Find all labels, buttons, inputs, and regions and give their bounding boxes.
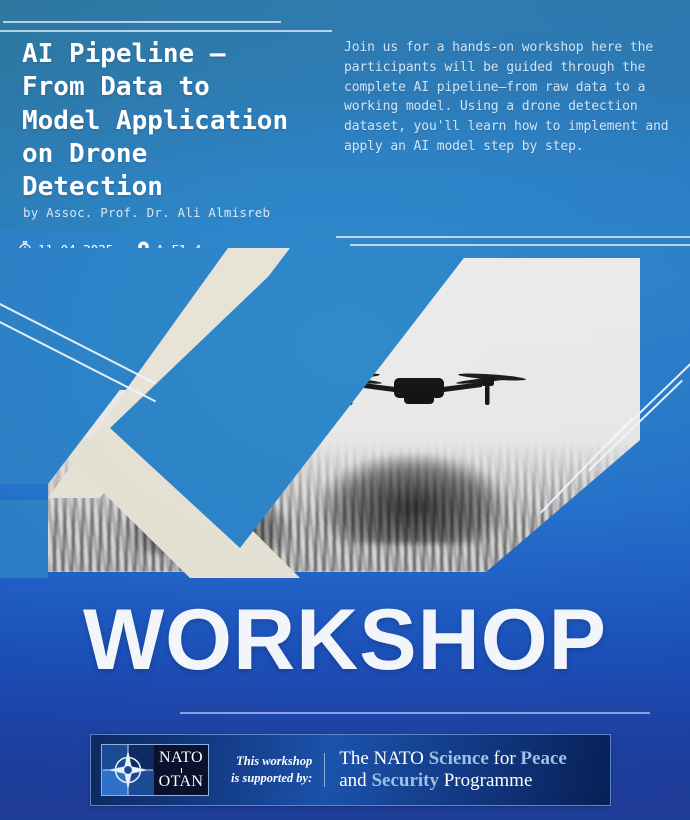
divider-top-short [3,21,281,23]
programme-text-1: The NATO [339,748,428,769]
divider-bottom [180,712,650,714]
programme-text-2: for [489,748,521,769]
nato-programme-title: The NATO Science for Peace and Security … [339,748,610,793]
poster-description: Join us for a hands-on workshop here the… [344,38,686,157]
nato-logo-nato: NATO [159,750,203,766]
programme-text-3: and [339,770,371,791]
nato-logo: NATO OTAN [101,744,209,796]
photo-grass [48,442,640,572]
nato-logo-otan: OTAN [159,774,204,790]
nato-sponsor-banner: NATO OTAN This workshop is supported by:… [90,734,611,806]
event-poster: AI Pipeline — From Data to Model Applica… [0,0,690,820]
nato-compass-star-icon [102,745,154,795]
programme-highlight-security: Security [371,770,439,791]
event-type-heading: WORKSHOP [0,597,690,683]
poster-title: AI Pipeline — From Data to Model Applica… [22,38,332,204]
poster-author: by Assoc. Prof. Dr. Ali Almisreb [23,205,333,220]
divider-right-long [336,236,690,238]
supported-line-2: is supported by: [231,770,312,787]
divider-right-short [350,244,690,246]
nato-logo-wordmark: NATO OTAN [154,745,208,795]
poster-artwork [0,248,690,568]
drone-photo [48,258,640,572]
divider-top-long [0,30,332,32]
drone-icon [304,360,534,420]
programme-highlight-science: Science [429,748,489,769]
nato-supported-by-text: This workshop is supported by: [231,753,325,787]
programme-highlight-peace: Peace [520,748,566,769]
supported-line-1: This workshop [231,753,312,770]
programme-text-4: Programme [439,770,532,791]
